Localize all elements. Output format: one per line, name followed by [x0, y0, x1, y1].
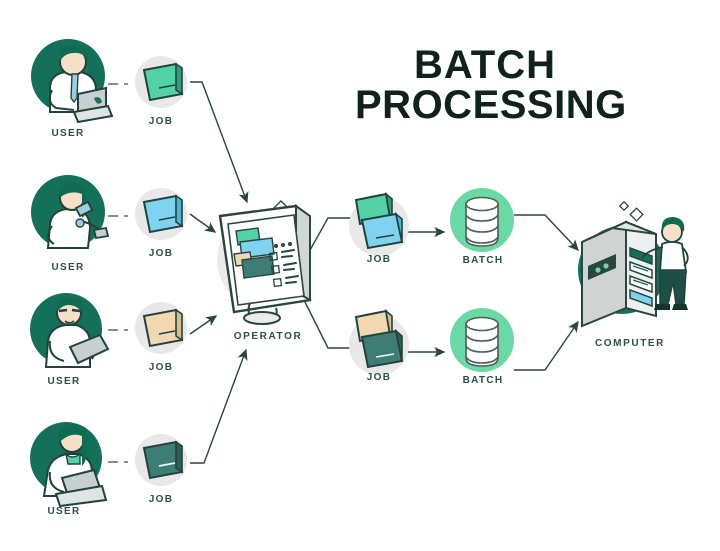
batch-lower-database-icon: [466, 318, 498, 367]
operator-illustration: [210, 198, 320, 330]
batch-upper: [446, 186, 518, 258]
job-1-icon: [144, 64, 182, 100]
job-3-icon: [144, 310, 182, 346]
batch-upper-database-icon: [466, 198, 498, 247]
queued-job-lower-label: JOB: [344, 372, 414, 383]
operator-label: OPERATOR: [213, 331, 323, 342]
computer-illustration: [560, 200, 700, 330]
job-3-card: [128, 296, 194, 362]
job-1-card: [128, 50, 194, 116]
job-2-icon: [144, 196, 182, 232]
user-3-label: USER: [14, 376, 114, 387]
user-1-label: USER: [18, 128, 118, 139]
user-2-label: USER: [18, 262, 118, 273]
user-2-illustration: [22, 168, 114, 260]
user-4-illustration: [22, 412, 116, 508]
job-4-card: [128, 428, 194, 494]
batch-processing-diagram: BATCH PROCESSING: [0, 0, 720, 551]
computer-label: COMPUTER: [560, 338, 700, 349]
job-4-label: JOB: [126, 494, 196, 505]
user-3-illustration: [22, 285, 114, 377]
batch-upper-label: BATCH: [442, 255, 524, 266]
job-2-label: JOB: [126, 248, 196, 259]
job-1-label: JOB: [126, 116, 196, 127]
arrow-job4-operator: [190, 350, 246, 463]
batch-lower: [446, 306, 518, 378]
job-4-icon: [144, 442, 182, 478]
job-2-card: [128, 182, 194, 248]
user-1-illustration: [22, 32, 114, 124]
batch-lower-label: BATCH: [442, 375, 524, 386]
job-3-label: JOB: [126, 362, 196, 373]
user-4-label: USER: [14, 506, 114, 517]
arrow-job1-operator: [190, 82, 247, 202]
queued-job-upper-label: JOB: [344, 254, 414, 265]
